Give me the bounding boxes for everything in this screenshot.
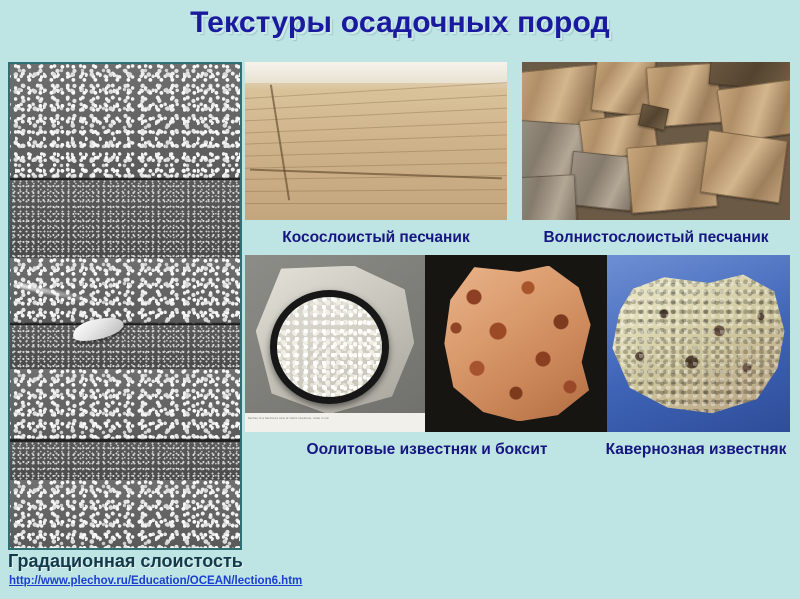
embedded-caption-text: Section of a hand lens view of oolitic l… bbox=[248, 417, 329, 420]
caption-graded-bedding: Градационная слоистость bbox=[8, 551, 243, 572]
lamina bbox=[245, 133, 507, 146]
cavernous-limestone-specimen bbox=[612, 274, 784, 416]
sandstone-slab bbox=[522, 174, 577, 220]
bed-coarse-4 bbox=[8, 480, 242, 548]
bed-fine-2 bbox=[8, 325, 242, 369]
caption-cavernous-limestone: Кавернозная известняк bbox=[596, 441, 796, 459]
graded-bedding-inner bbox=[10, 64, 240, 548]
figure-graded-bedding bbox=[8, 62, 242, 550]
sandstone-slab bbox=[700, 129, 788, 203]
lamina bbox=[245, 203, 507, 204]
lamina bbox=[245, 189, 507, 192]
bed-fine-3 bbox=[8, 442, 242, 481]
lamina bbox=[245, 106, 507, 124]
source-url-link[interactable]: http://www.plechov.ru/Education/OCEAN/le… bbox=[9, 575, 302, 587]
figure-wavy-bedded-sandstone bbox=[522, 62, 790, 220]
bed-coarse-3 bbox=[8, 369, 242, 442]
bauxite-specimen bbox=[441, 266, 590, 422]
bed-coarse-1 bbox=[8, 64, 242, 180]
figure-oolitic-limestone: Section of a hand lens view of oolitic l… bbox=[245, 255, 425, 432]
caption-wavy-bedded-sandstone: Волнистослоистый песчаник bbox=[522, 229, 790, 247]
lamina bbox=[245, 80, 507, 102]
bed-fine-1 bbox=[8, 180, 242, 257]
hand-lens-icon bbox=[270, 290, 388, 403]
slide-canvas: Текстуры осадочных пород bbox=[0, 0, 800, 599]
caption-oolitic-limestone-and-bauxite: Оолитовые известняк и боксит bbox=[262, 441, 592, 459]
figure-cross-bedded-sandstone bbox=[245, 62, 507, 220]
page-title: Текстуры осадочных пород bbox=[0, 6, 800, 40]
embedded-caption-strip: Section of a hand lens view of oolitic l… bbox=[245, 413, 425, 432]
figure-cavernous-limestone bbox=[607, 255, 790, 432]
lamina bbox=[245, 147, 507, 158]
lamina bbox=[245, 120, 507, 135]
outcrop-top-band bbox=[245, 62, 507, 83]
caption-cross-bedded-sandstone: Косослоистый песчаник bbox=[245, 229, 507, 247]
figure-bauxite bbox=[425, 255, 607, 432]
